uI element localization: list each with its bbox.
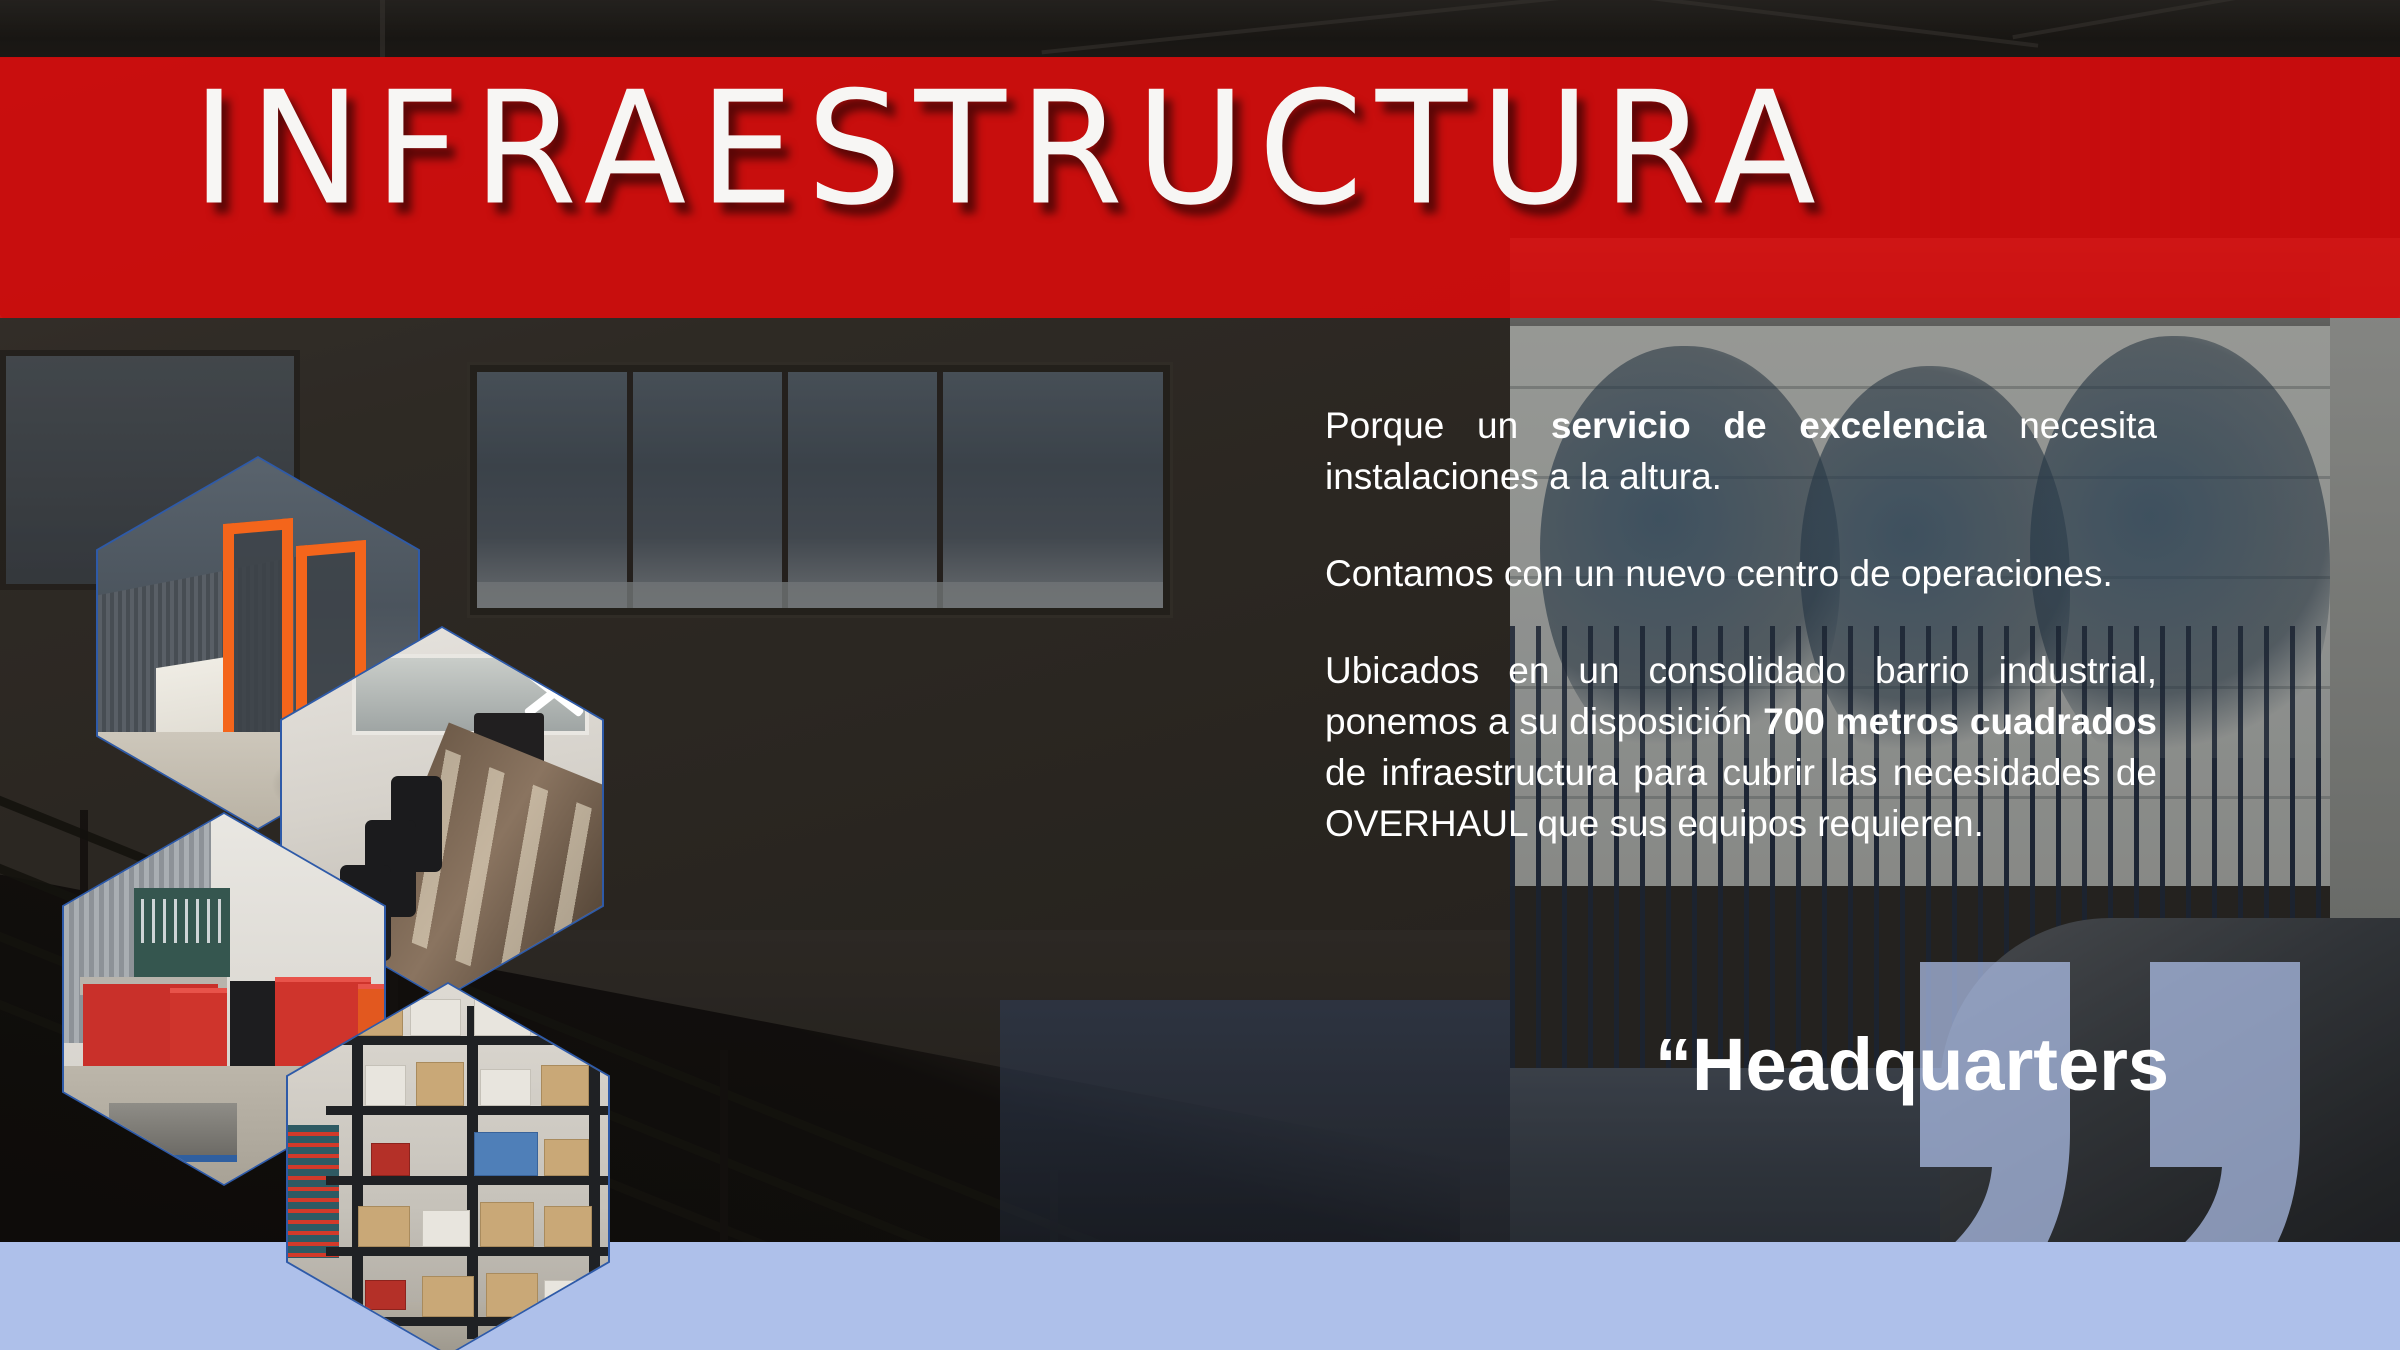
p3-after: de infraestructura para cubrir las neces…: [1325, 752, 2157, 844]
p1-before: Porque un: [1325, 405, 1551, 446]
body-copy: Porque un servicio de excelencia necesit…: [1325, 400, 2157, 849]
headquarters-label: “Headquarters: [1655, 1022, 2169, 1107]
page-title: INFRAESTRUCTURA: [192, 72, 1829, 228]
paragraph-3: Ubicados en un consolidado barrio indust…: [1325, 645, 2157, 849]
p3-bold: 700 metros cuadrados: [1763, 701, 2157, 742]
slide-infraestructura: INFRAESTRUCTURA Porque un servicio de ex…: [0, 0, 2400, 1350]
paragraph-2: Contamos con un nuevo centro de operacio…: [1325, 548, 2157, 599]
p1-bold: servicio de excelencia: [1551, 405, 1987, 446]
paragraph-1: Porque un servicio de excelencia necesit…: [1325, 400, 2157, 502]
